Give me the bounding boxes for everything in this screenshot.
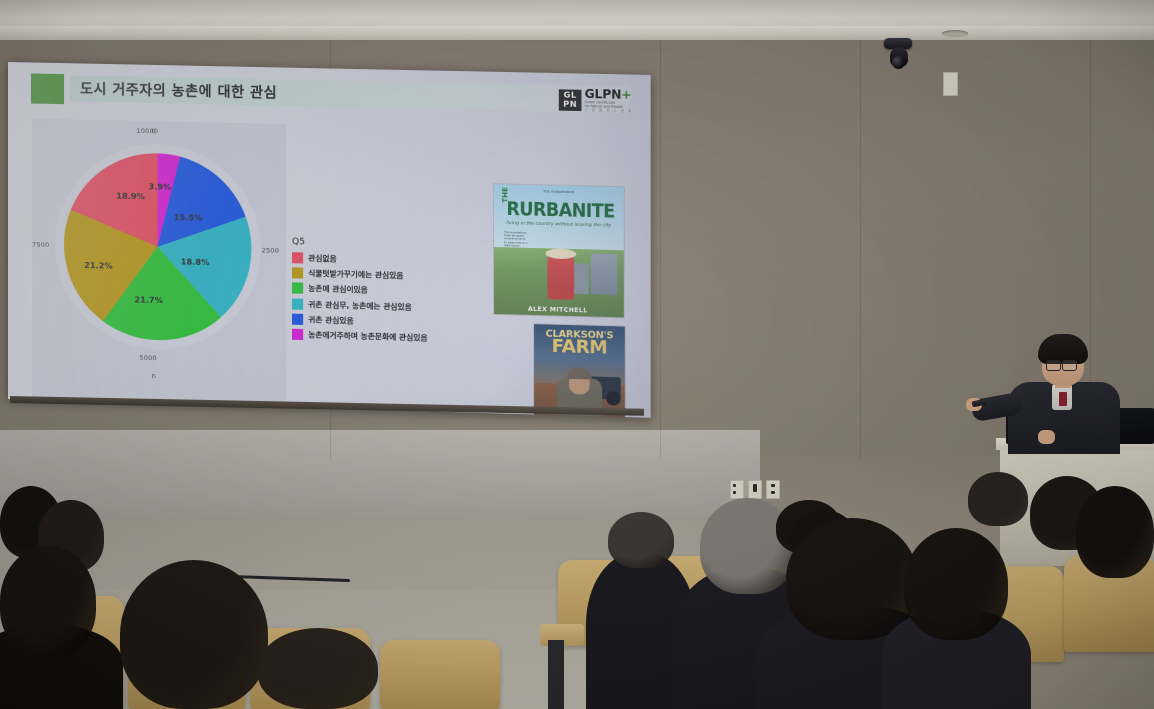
presenter-tie — [1059, 392, 1067, 406]
legend-label: 식물텃밭가꾸기에는 관심있음 — [308, 268, 403, 282]
presenter-glasses-icon — [1046, 360, 1061, 371]
tick-left: 7500 — [32, 241, 49, 249]
presenter-glasses-icon — [1062, 360, 1077, 371]
glpn-tagline-3: 그 린 캠 퍼 스 창 조 — [585, 108, 633, 113]
rurbanite-book-cover: The Independent THE RURBANITE living in … — [493, 183, 625, 318]
slice-label-1: 21.2% — [84, 260, 113, 271]
slice-label-5: 3.9% — [148, 181, 171, 192]
pie-chart: 10000 0 2500 5000 7500 n 18.9% 21.2% 21.… — [32, 119, 286, 415]
axis-label-n: n — [151, 372, 155, 380]
clarksons-farm-poster: CLARKSON'S FARM — [533, 323, 626, 418]
slice-label-0: 18.9% — [116, 191, 145, 202]
pie-chart-panel: 10000 0 2500 5000 7500 n 18.9% 21.2% 21.… — [32, 119, 286, 415]
attendee-head — [786, 518, 918, 640]
presenter-hand-secondary — [1038, 430, 1055, 444]
wall-sensor-plate — [943, 72, 958, 96]
legend-rows: 관심없음식물텃밭가꾸기에는 관심있음농촌에 관심이있음귀촌 관심무, 농촌에는 … — [292, 250, 496, 347]
ceiling-soffit — [0, 26, 1154, 40]
attendee-head — [968, 472, 1028, 526]
glpn-logo-mark: GL PN — [559, 89, 582, 111]
attendee-head — [0, 546, 96, 656]
legend-swatch-icon — [292, 252, 303, 263]
projection-screen: 도시 거주자의 농촌에 대한 관심 GL PN GLPN+ Green Land… — [8, 62, 651, 418]
book-title: RURBANITE — [506, 199, 621, 222]
legend-swatch-icon — [292, 313, 303, 324]
legend-label: 귀촌 관심무, 농촌에는 관심있음 — [308, 299, 412, 313]
presentation-slide: 도시 거주자의 농촌에 대한 관심 GL PN GLPN+ Green Land… — [8, 62, 651, 418]
tick-right: 2500 — [262, 246, 280, 254]
glpn-mark-line2: PN — [563, 100, 577, 109]
poster-line-2: FARM — [538, 337, 620, 358]
attendee-head — [1076, 486, 1154, 578]
attendee-head — [608, 512, 674, 568]
legend-swatch-icon — [292, 268, 303, 279]
legend-swatch-icon — [292, 283, 303, 294]
slide-accent-square — [30, 72, 65, 105]
wall-seam — [660, 40, 661, 460]
tick-bottom: 5000 — [139, 354, 156, 363]
attendee-head — [258, 628, 378, 709]
wall-seam — [860, 40, 861, 460]
camera-lens-icon — [892, 56, 905, 69]
attendee-head — [120, 560, 268, 709]
power-outlet-plate[interactable] — [766, 480, 780, 499]
power-outlet-plate[interactable] — [730, 480, 744, 499]
chair-post — [548, 640, 564, 709]
pie-slices — [64, 151, 251, 342]
legend-label: 농촌에거주하며 농촌문화에 관심있음 — [308, 329, 427, 343]
slice-label-2: 21.7% — [134, 294, 163, 305]
legend-label: 귀촌 관심있음 — [308, 314, 353, 326]
legend-swatch-icon — [292, 329, 303, 340]
glpn-mark-line1: GL — [564, 90, 577, 99]
chart-legend: Q5 관심없음식물텃밭가꾸기에는 관심있음농촌에 관심이있음귀촌 관심무, 농촌… — [292, 237, 496, 348]
glpn-logo: GL PN GLPN+ Green Landscape for Nature a… — [559, 87, 644, 113]
slice-label-3: 18.8% — [181, 256, 210, 267]
ceiling-vent — [942, 30, 968, 37]
lecture-hall-photo: 도시 거주자의 농촌에 대한 관심 GL PN GLPN+ Green Land… — [0, 0, 1154, 709]
tick-top-overlap: 0 — [151, 127, 155, 135]
legend-label: 관심없음 — [308, 253, 336, 265]
attendee-head — [904, 528, 1008, 640]
legend-swatch-icon — [292, 298, 303, 309]
legend-label: 농촌에 관심이있음 — [308, 283, 368, 296]
slice-label-4: 15.5% — [174, 212, 203, 223]
data-port-plate[interactable] — [748, 480, 762, 499]
auditorium-chair — [380, 640, 500, 709]
